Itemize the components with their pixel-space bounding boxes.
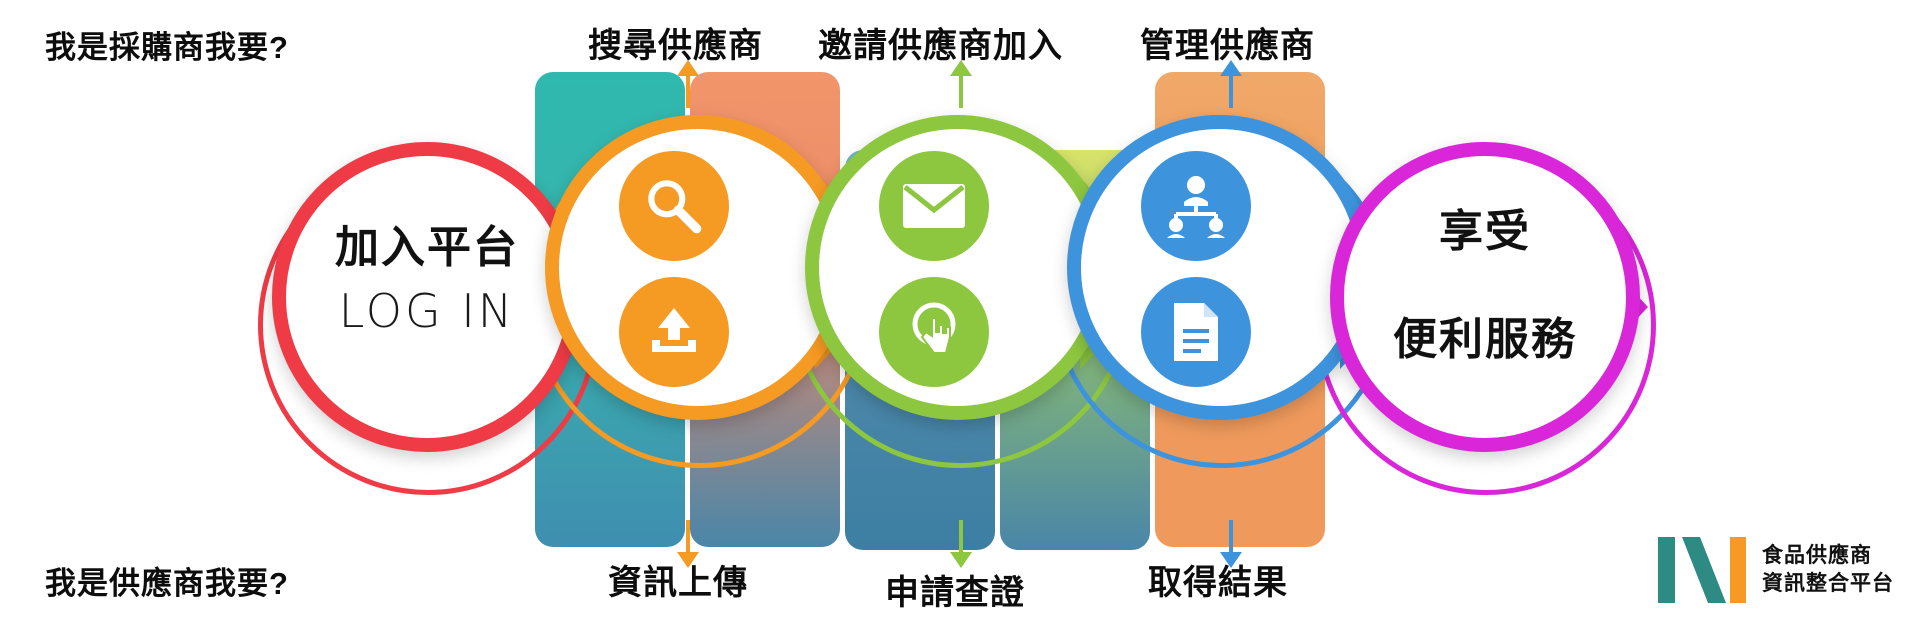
label-buyer-question: 我是採購商我要?	[45, 22, 289, 67]
logo-line-1: 食品供應商	[1762, 542, 1894, 570]
caption-invite-supplier: 邀請供應商加入	[818, 18, 1063, 67]
document-icon[interactable]	[1141, 277, 1251, 387]
caption-manage-supplier: 管理供應商	[1140, 18, 1315, 67]
caption-apply-verification: 申請查證	[885, 565, 1025, 614]
upload-icon[interactable]	[619, 277, 729, 387]
caption-search-supplier: 搜尋供應商	[588, 18, 763, 67]
click-hand-icon[interactable]	[879, 277, 989, 387]
caption-get-result: 取得結果	[1148, 555, 1288, 604]
login-title-en: LOG IN	[286, 284, 568, 338]
envelope-icon[interactable]	[879, 151, 989, 261]
caption-info-upload: 資訊上傳	[608, 555, 748, 604]
label-supplier-question: 我是供應商我要?	[45, 558, 289, 603]
step-circle-enjoy[interactable]: 享受 便利服務	[1330, 142, 1640, 452]
step-circle-login[interactable]: 加入平台 LOG IN	[272, 142, 582, 452]
enjoy-title-line1: 享受	[1344, 208, 1626, 256]
enjoy-title-line2: 便利服務	[1344, 316, 1626, 364]
logo-mark	[1656, 533, 1748, 607]
logo-line-2: 資訊整合平台	[1762, 570, 1894, 598]
step-circle-manage-result[interactable]	[1067, 115, 1372, 420]
logo-text-block: 食品供應商 資訊整合平台	[1762, 542, 1894, 599]
logo: 食品供應商 資訊整合平台	[1656, 533, 1894, 607]
search-icon[interactable]	[619, 151, 729, 261]
arrow-down-green	[948, 520, 974, 570]
login-title-cn: 加入平台	[286, 224, 568, 272]
people-network-icon[interactable]	[1141, 151, 1251, 261]
step-circle-invite-verify[interactable]	[805, 115, 1110, 420]
